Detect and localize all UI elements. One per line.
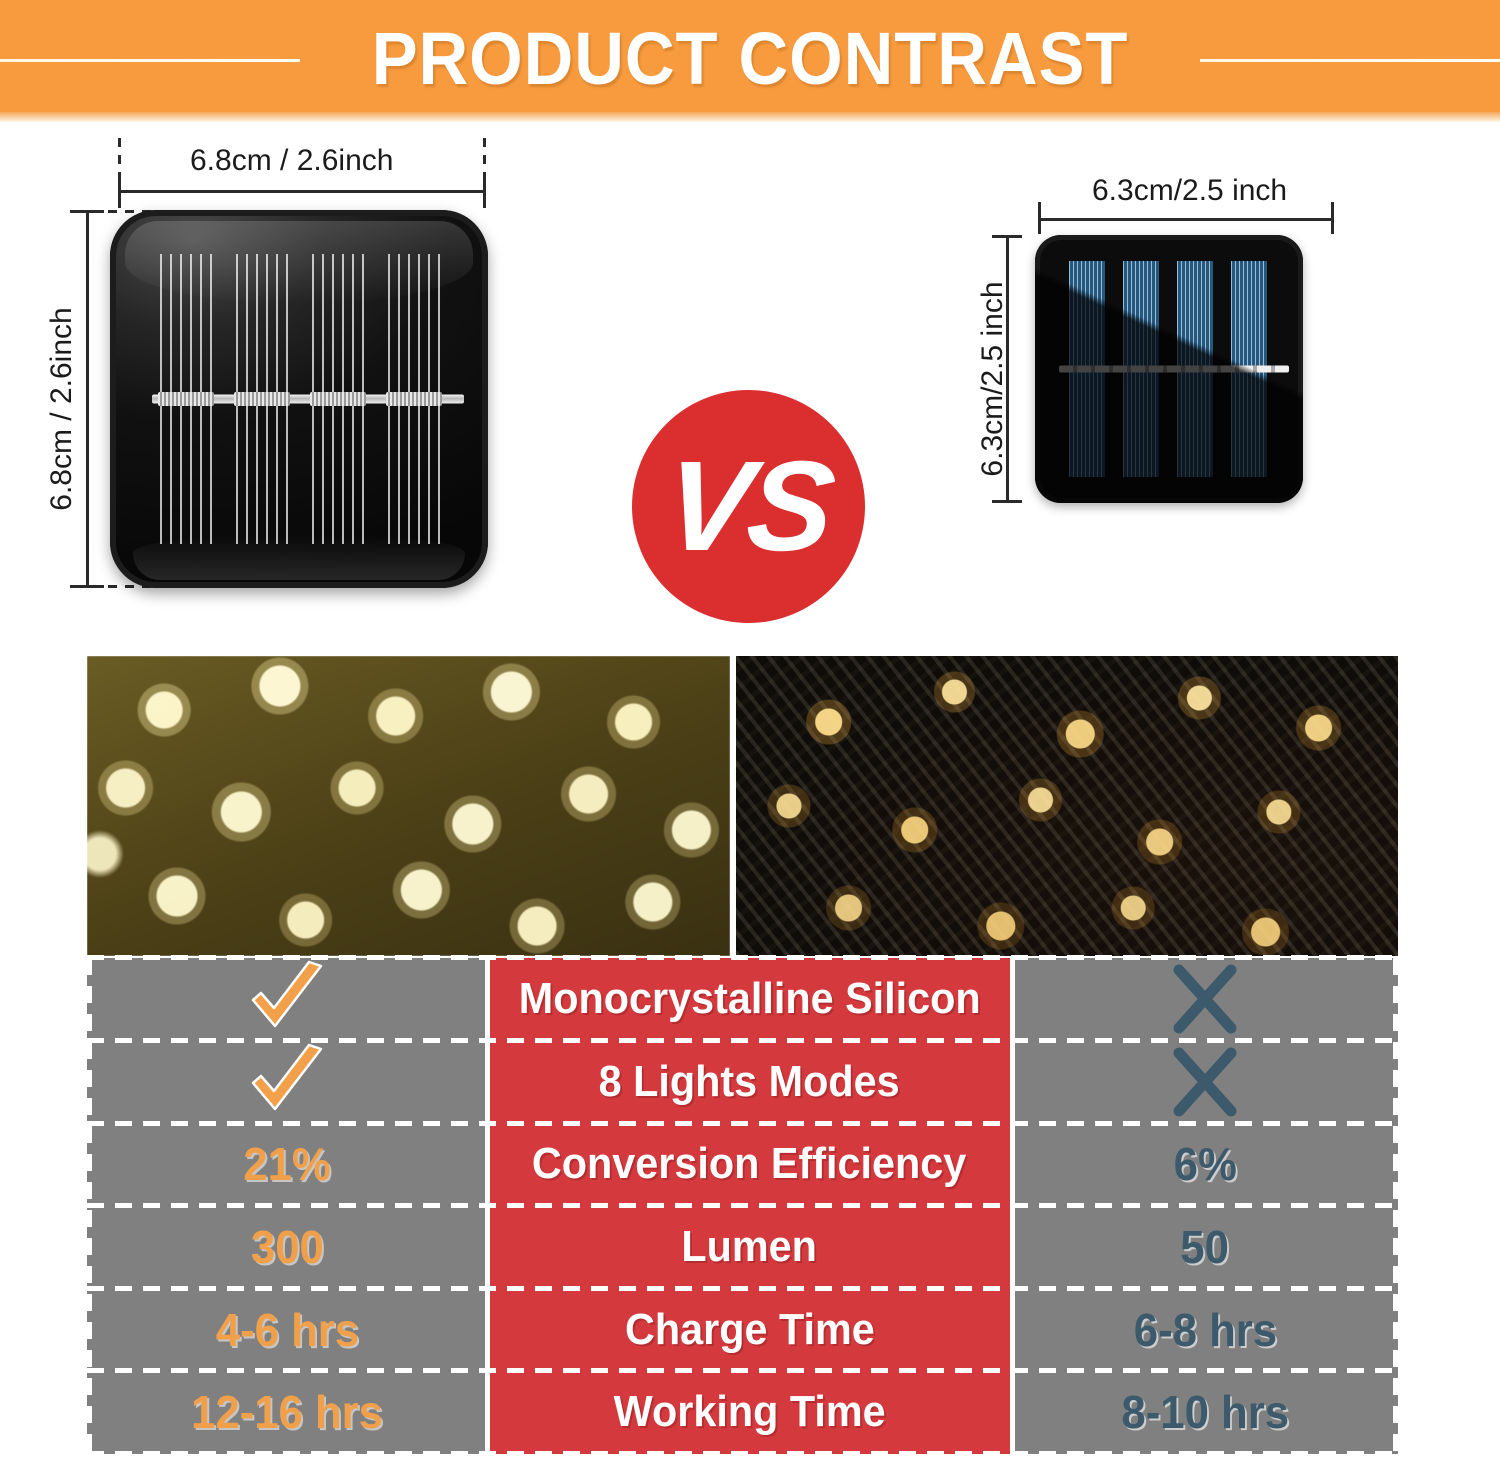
feature-label: Charge Time <box>625 1305 875 1355</box>
feature-name-cell: 8 Lights Modes <box>487 1041 1012 1124</box>
ours-busbar-segment <box>234 392 290 406</box>
others-width-tick-right <box>1331 202 1334 234</box>
table-separator <box>87 1286 1398 1291</box>
table-row: Monocrystalline Silicon <box>87 958 1398 1041</box>
ours-busbar-segment <box>158 392 214 406</box>
feature-label: Working Time <box>614 1387 886 1437</box>
feature-name-cell: Charge Time <box>487 1288 1012 1371</box>
others-value: 8-10 hrs <box>1121 1385 1289 1439</box>
others-value: 6-8 hrs <box>1133 1303 1276 1357</box>
ours-value-cell <box>87 1041 487 1124</box>
table-separator <box>87 1451 1398 1456</box>
ours-width-dimension-label: 6.8cm / 2.6inch <box>190 144 393 178</box>
others-led-lights-image <box>736 656 1398 956</box>
product-photos <box>87 656 1398 956</box>
table-row: 8 Lights Modes <box>87 1041 1398 1124</box>
ours-height-tick-top <box>70 210 104 213</box>
page-title: PRODUCT CONTRAST <box>53 16 1448 101</box>
ours-busbar-segment <box>386 392 442 406</box>
others-height-dimension-label: 6.3cm/2.5 inch <box>976 234 1010 524</box>
ours-width-extension-right <box>483 138 486 168</box>
others-height-dimension-line <box>1006 235 1009 503</box>
ours-width-tick-left <box>118 172 121 208</box>
others-height-tick-top <box>992 235 1022 238</box>
ours-width-tick-right <box>483 172 486 208</box>
others-width-dimension-line <box>1038 218 1334 221</box>
header-underglow <box>0 112 1500 122</box>
ours-value: 300 <box>251 1220 324 1274</box>
versus-label: VS <box>658 433 838 580</box>
table-row: 300 Lumen 50 <box>87 1206 1398 1289</box>
table-row: 21% Conversion Efficiency 6% <box>87 1123 1398 1206</box>
ours-busbar-segment <box>310 392 366 406</box>
ours-value: 4-6 hrs <box>215 1303 358 1357</box>
ours-height-dimension-line <box>86 210 89 588</box>
others-value-cell: 50 <box>1012 1206 1398 1289</box>
others-value-cell <box>1012 1041 1398 1124</box>
others-value-cell: 6% <box>1012 1123 1398 1206</box>
header-banner: PRODUCT CONTRAST <box>0 0 1500 118</box>
ours-solar-panel-image <box>110 210 488 588</box>
ours-product-photo <box>87 656 730 956</box>
others-product-photo <box>736 656 1398 956</box>
feature-label: Lumen <box>682 1222 818 1272</box>
product-contrast-infographic: PRODUCT CONTRAST 6.8cm / 2.6inch 6.8cm /… <box>0 0 1500 1476</box>
others-value-cell: 8-10 hrs <box>1012 1371 1398 1454</box>
feature-name-cell: Conversion Efficiency <box>487 1123 1012 1206</box>
table-row: 12-16 hrs Working Time 8-10 hrs <box>87 1371 1398 1454</box>
ours-width-dimension-line <box>118 190 486 193</box>
ours-value-cell: 12-16 hrs <box>87 1371 487 1454</box>
others-value-cell: 6-8 hrs <box>1012 1288 1398 1371</box>
table-separator <box>87 1203 1398 1208</box>
ours-width-extension-left <box>118 138 121 168</box>
ours-height-dimension-label: 6.8cm / 2.6inch <box>45 254 79 564</box>
feature-name-cell: Working Time <box>487 1371 1012 1454</box>
feature-label: Monocrystalline Silicon <box>519 974 981 1024</box>
ours-value-cell: 21% <box>87 1123 487 1206</box>
table-row: 4-6 hrs Charge Time 6-8 hrs <box>87 1288 1398 1371</box>
panel-comparison-section: 6.8cm / 2.6inch 6.8cm / 2.6inch <box>0 122 1500 652</box>
ours-value: 21% <box>243 1137 330 1191</box>
others-value: 50 <box>1181 1220 1230 1274</box>
others-solar-panel-image <box>1035 235 1303 503</box>
feature-name-cell: Monocrystalline Silicon <box>487 958 1012 1041</box>
feature-label: Conversion Efficiency <box>532 1139 966 1189</box>
table-separator <box>87 1038 1398 1043</box>
feature-name-cell: Lumen <box>487 1206 1012 1289</box>
ours-led-lights-image <box>87 656 730 956</box>
table-separator <box>87 955 1398 960</box>
others-height-tick-bottom <box>992 500 1022 503</box>
versus-badge: VS <box>632 390 865 623</box>
ours-value-cell: 300 <box>87 1206 487 1289</box>
feature-label: 8 Lights Modes <box>599 1057 900 1107</box>
ours-height-tick-bottom <box>70 585 104 588</box>
table-separator <box>87 1121 1398 1126</box>
ours-value-cell <box>87 958 487 1041</box>
others-busbar <box>1059 366 1289 373</box>
spec-comparison-table: Monocrystalline Silicon 8 Lights Modes <box>87 958 1398 1454</box>
ours-value-cell: 4-6 hrs <box>87 1288 487 1371</box>
check-icon <box>241 1043 333 1121</box>
others-width-dimension-label: 6.3cm/2.5 inch <box>1092 174 1287 208</box>
cross-icon <box>1159 960 1251 1038</box>
ours-value: 12-16 hrs <box>191 1385 383 1439</box>
others-value-cell <box>1012 958 1398 1041</box>
others-value: 6% <box>1173 1137 1236 1191</box>
ours-panel-cells <box>158 254 444 544</box>
table-separator <box>87 1368 1398 1373</box>
others-width-tick-left <box>1038 202 1041 234</box>
cross-icon <box>1159 1043 1251 1121</box>
check-icon <box>241 960 333 1038</box>
